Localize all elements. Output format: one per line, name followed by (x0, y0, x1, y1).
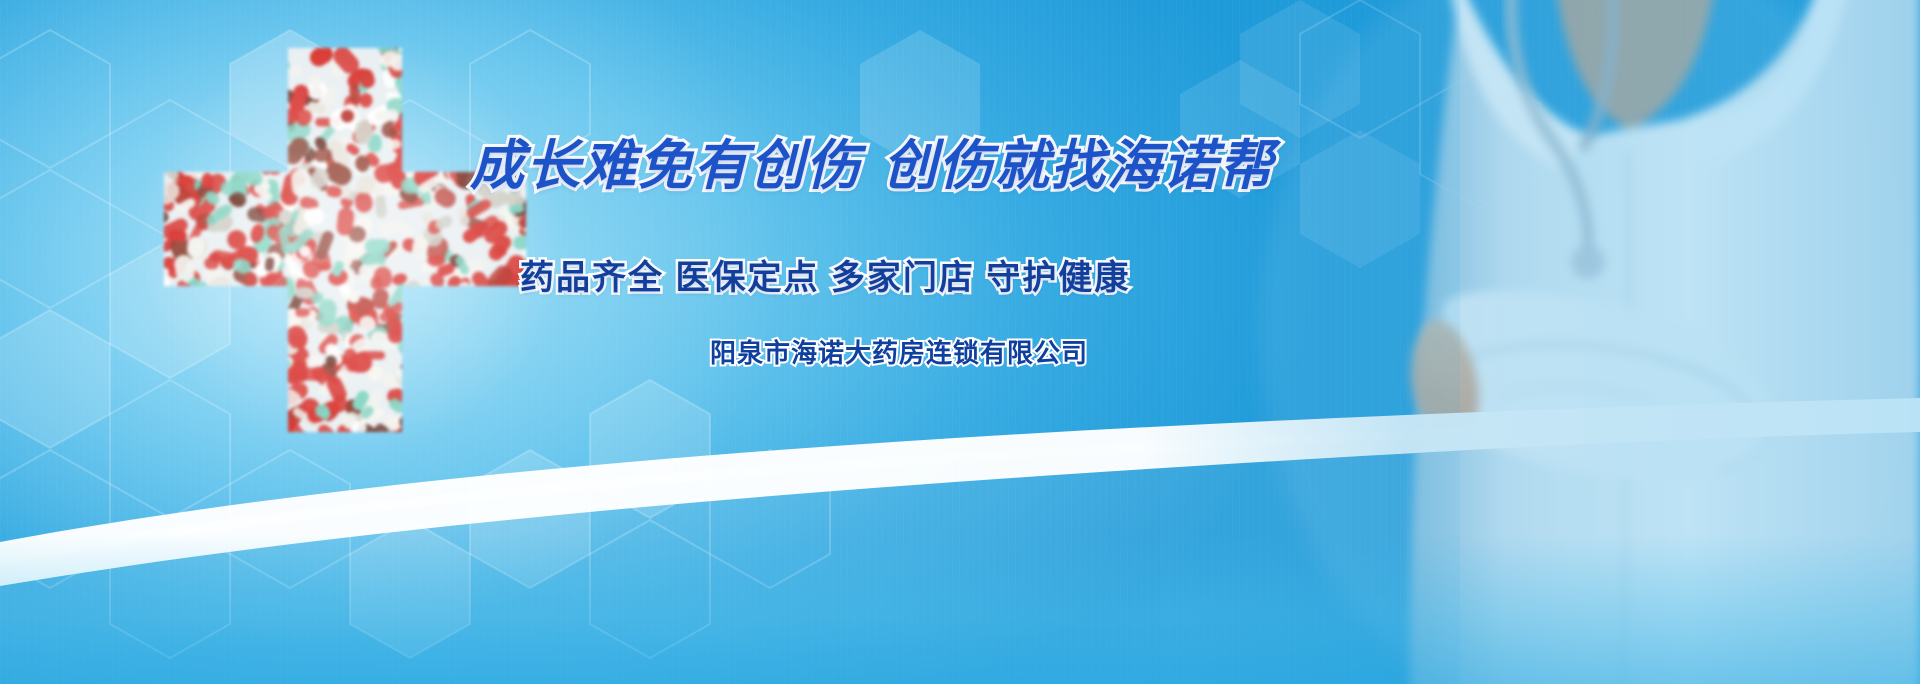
background-right-wash (1140, 0, 1920, 684)
banner-subtitle: 药品齐全 医保定点 多家门店 守护健康 (520, 250, 1220, 299)
banner-subtitle-text: 药品齐全 医保定点 多家门店 守护健康 (520, 259, 1130, 297)
banner-root: 成长难免有创伤 创伤就找海诺帮 药品齐全 医保定点 多家门店 守护健康 阳泉市海… (0, 0, 1920, 684)
banner-company-name: 阳泉市海诺大药房连锁有限公司 (710, 333, 1230, 370)
banner-headline: 成长难免有创伤 创伤就找海诺帮 (470, 138, 1170, 195)
banner-company-text: 阳泉市海诺大药房连锁有限公司 (710, 338, 1088, 368)
banner-headline-text: 成长难免有创伤 创伤就找海诺帮 (470, 134, 1275, 197)
